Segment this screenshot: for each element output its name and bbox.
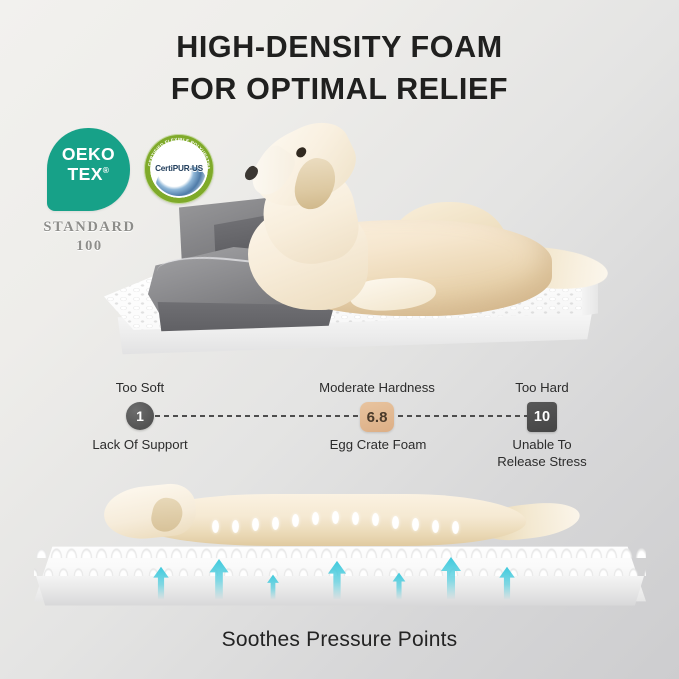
oeko-standard-label: STANDARD 100 — [38, 218, 141, 255]
headline-line-2: FOR OPTIMAL RELIEF — [0, 68, 679, 110]
bottom-caption: Soothes Pressure Points — [0, 628, 679, 652]
scale-left-top-label: Too Soft — [80, 380, 200, 397]
scale-left-bottom-label: Lack Of Support — [64, 436, 216, 453]
dog-photo — [238, 128, 610, 328]
scale-middle-bottom-label: Egg Crate Foam — [310, 436, 446, 453]
oeko-tex-label: OEKO TEX® — [47, 144, 130, 185]
hardness-scale: Too Soft Moderate Hardness Too Hard 1 6.… — [0, 380, 679, 476]
bottom-foam-base — [36, 576, 644, 608]
scale-marker-6-8[interactable]: 6.8 — [360, 402, 394, 432]
certipur-us-icon: COMPANY CERTIFIED FLEXIBLE POLYURETHANE … — [144, 134, 214, 204]
scale-right-top-label: Too Hard — [490, 380, 594, 397]
page-title: HIGH-DENSITY FOAM FOR OPTIMAL RELIEF — [0, 26, 679, 110]
scale-marker-10[interactable]: 10 — [527, 402, 557, 432]
infographic-page: HIGH-DENSITY FOAM FOR OPTIMAL RELIEF — [0, 0, 679, 679]
pressure-point-illustration — [0, 472, 679, 632]
dog-eye — [294, 145, 308, 159]
oeko-tex-icon: OEKO TEX® — [47, 128, 130, 211]
scale-right-bottom-line-1: Unable To — [478, 436, 606, 453]
standard-word: STANDARD — [38, 218, 141, 237]
headline-line-1: HIGH-DENSITY FOAM — [0, 26, 679, 68]
certipur-inner-disc: CertiPUR-US — [152, 142, 207, 197]
bottom-foam-teeth-shadow — [34, 554, 646, 576]
scale-right-bottom-label: Unable To Release Stress — [478, 436, 606, 470]
scale-right-bottom-line-2: Release Stress — [478, 453, 606, 470]
oeko-line-1: OEKO — [47, 144, 130, 164]
certipur-center-label: CertiPUR-US — [152, 164, 207, 173]
scale-track — [155, 415, 543, 417]
standard-number: 100 — [38, 237, 141, 256]
scale-middle-top-label: Moderate Hardness — [302, 380, 452, 397]
certification-badges: OEKO TEX® STANDARD 100 COMPANY CERTIFIED… — [38, 128, 228, 258]
oeko-line-2: TEX® — [47, 164, 130, 184]
scale-marker-1[interactable]: 1 — [126, 402, 154, 430]
